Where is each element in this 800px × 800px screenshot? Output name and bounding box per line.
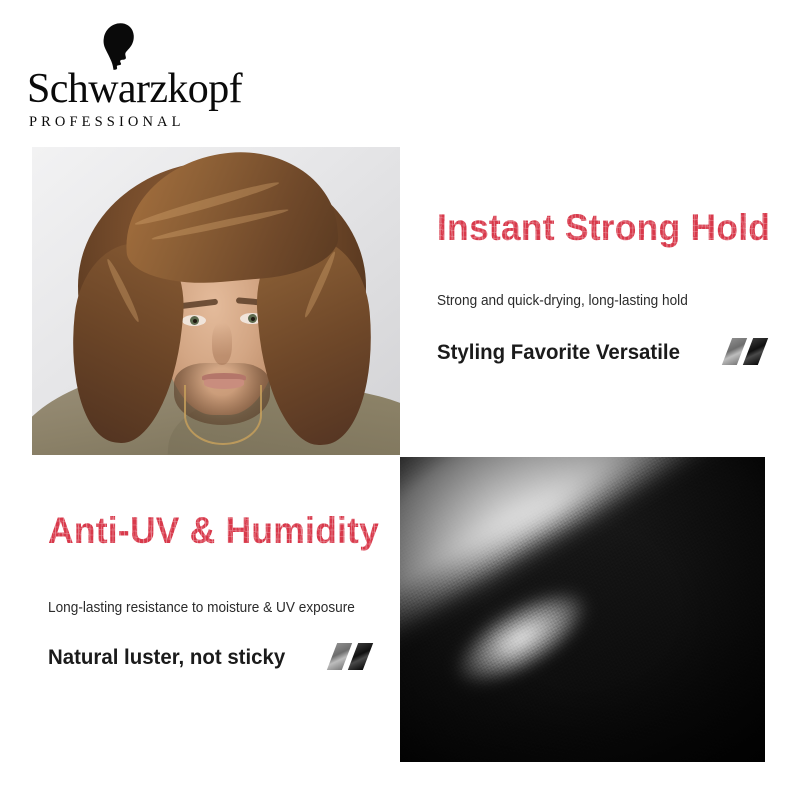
double-slash-icon xyxy=(330,643,382,670)
feature-claim-row: Natural luster, not sticky xyxy=(48,643,368,670)
brand-name: Schwarzkopf xyxy=(27,66,209,112)
product-feature-poster: Schwarzkopf PROFESSIONAL Instant Strong … xyxy=(0,0,800,800)
feature-subline: Long-lasting resistance to moisture & UV… xyxy=(48,599,349,617)
feature-block-instant-strong-hold: Instant Strong Hold Strong and quick-dry… xyxy=(437,208,757,365)
sheen-photo xyxy=(400,457,765,762)
feature-subline: Strong and quick-drying, long-lasting ho… xyxy=(437,292,738,310)
double-slash-icon xyxy=(725,338,777,365)
feature-headline: Instant Strong Hold xyxy=(437,208,770,248)
feature-headline: Anti-UV & Humidity xyxy=(48,511,379,551)
feature-claim-row: Styling Favorite Versatile xyxy=(437,338,757,365)
feature-claim: Natural luster, not sticky xyxy=(48,644,285,670)
model-photo xyxy=(32,147,400,455)
feature-block-anti-uv-humidity: Anti-UV & Humidity Long-lasting resistan… xyxy=(48,511,368,670)
feature-claim: Styling Favorite Versatile xyxy=(437,339,680,365)
brand-logo: Schwarzkopf PROFESSIONAL xyxy=(27,22,209,118)
brand-tagline: PROFESSIONAL xyxy=(29,114,211,130)
